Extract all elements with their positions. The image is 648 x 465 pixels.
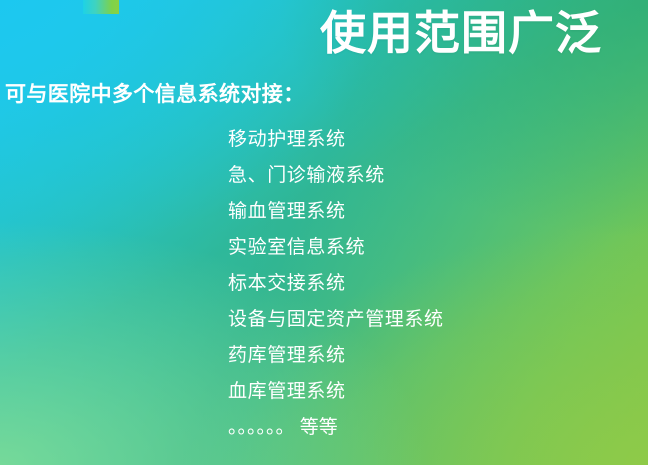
list-item-etc: 。。。。。。 等等: [228, 410, 444, 446]
system-list: 移动护理系统 急、门诊输液系统 输血管理系统 实验室信息系统 标本交接系统 设备…: [228, 122, 444, 446]
slide-canvas: 使用范围广泛 可与医院中多个信息系统对接： 移动护理系统 急、门诊输液系统 输血…: [0, 0, 648, 465]
list-item: 标本交接系统: [228, 266, 444, 302]
page-title: 使用范围广泛: [320, 8, 602, 60]
list-item: 输血管理系统: [228, 194, 444, 230]
list-item: 血库管理系统: [228, 374, 444, 410]
gradient-accent-bar: [83, 0, 119, 14]
subtitle-text: 可与医院中多个信息系统对接：: [5, 78, 305, 108]
list-item: 药库管理系统: [228, 338, 444, 374]
list-item: 急、门诊输液系统: [228, 158, 444, 194]
list-item: 移动护理系统: [228, 122, 444, 158]
list-item: 设备与固定资产管理系统: [228, 302, 444, 338]
list-item: 实验室信息系统: [228, 230, 444, 266]
